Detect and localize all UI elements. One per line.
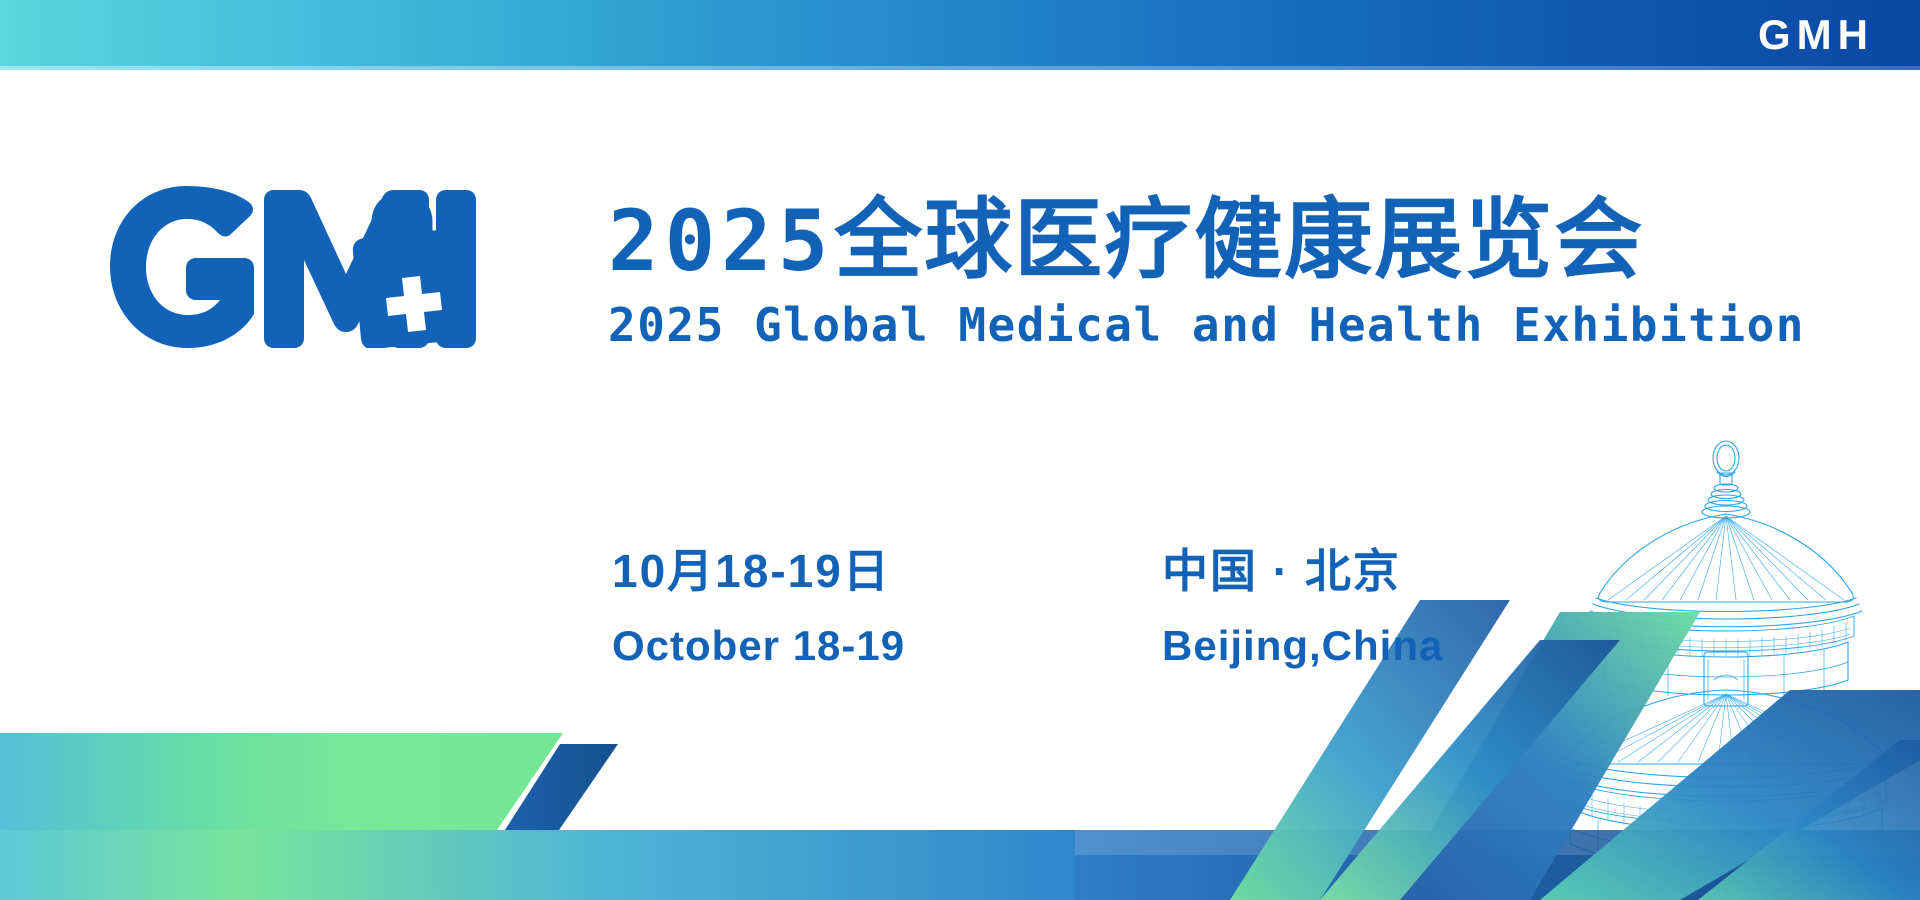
event-date-english: October 18-19	[612, 623, 912, 669]
deco-stripe-dark	[390, 744, 618, 868]
gmh-logo-mark	[108, 186, 478, 348]
event-info-row: 10月18-19日 October 18-19 中国 · 北京 Beijing,…	[612, 546, 1462, 669]
title-year: 2025	[608, 192, 834, 290]
title-chinese: 2025全球医疗健康展览会	[608, 196, 1805, 284]
temple-of-heaven-illustration	[1536, 440, 1916, 860]
title-english: 2025 Global Medical and Health Exhibitio…	[608, 298, 1805, 352]
topbar-brand-gmh: GMH	[1758, 14, 1874, 56]
title-block: 2025全球医疗健康展览会 2025 Global Medical and He…	[608, 196, 1805, 352]
event-place-english: Beijing,China	[1162, 623, 1462, 669]
deco-band-right	[1075, 855, 1920, 900]
event-place-chinese: 中国 · 北京	[1162, 546, 1462, 597]
deco-band-green	[0, 733, 563, 830]
event-banner: GMH	[0, 0, 1920, 900]
topbar-sheen	[0, 66, 1920, 70]
event-date-chinese: 10月18-19日	[612, 546, 912, 597]
deco-band-lower	[0, 830, 1075, 900]
event-place-block: 中国 · 北京 Beijing,China	[1162, 546, 1462, 669]
title-chinese-text: 全球医疗健康展览会	[834, 190, 1644, 289]
top-gradient-bar: GMH	[0, 0, 1920, 70]
event-date-block: 10月18-19日 October 18-19	[612, 546, 912, 669]
